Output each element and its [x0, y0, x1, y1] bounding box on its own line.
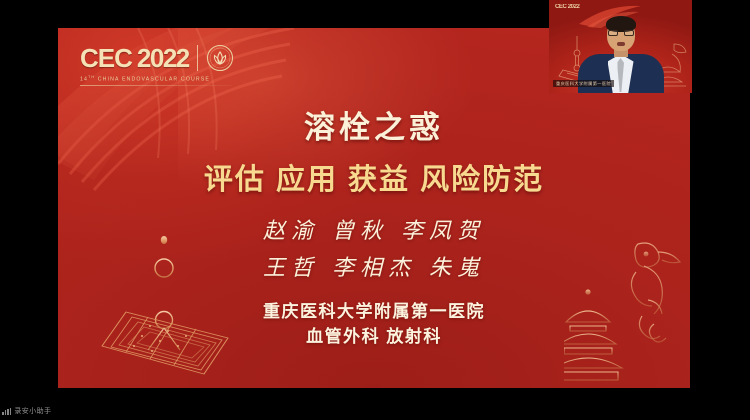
screen-root: CEC 2022 14TH CHINA ENDOVASCULAR COURSE	[0, 0, 750, 420]
presenter-video[interactable]: CEC 2022	[549, 0, 692, 93]
logo-ordinal-suffix: TH	[88, 75, 95, 79]
logo-divider	[197, 45, 198, 71]
logo-year-text: 2022	[137, 45, 189, 71]
logo-ordinal: 14	[80, 77, 88, 83]
logo-rule	[80, 85, 232, 86]
affiliation-line-2: 血管外科 放射科	[58, 322, 690, 347]
logo-cec-text: CEC	[80, 45, 132, 71]
presenter-mouth	[617, 42, 625, 46]
logo-subtitle: 14TH CHINA ENDOVASCULAR COURSE	[80, 75, 240, 83]
logo-subtitle-text: CHINA ENDOVASCULAR COURSE	[98, 77, 210, 83]
signal-bars-icon	[2, 408, 11, 415]
cec-logo: CEC 2022 14TH CHINA ENDOVASCULAR COURSE	[80, 44, 240, 86]
pip-caption: 重庆医科大学附属第一医院	[553, 80, 614, 87]
status-text: 录安小助手	[14, 406, 51, 416]
status-bar: 录安小助手	[2, 406, 51, 416]
presenter-glasses-icon	[608, 30, 634, 36]
affiliation-line-1: 重庆医科大学附属第一医院	[58, 297, 690, 322]
pip-logo: CEC 2022	[555, 4, 579, 10]
lotus-emblem-icon	[206, 44, 234, 72]
authors-line-1: 赵渝 曾秋 李凤贺	[58, 213, 690, 245]
slide-title: 溶栓之惑	[58, 102, 690, 147]
slide-subtitle: 评估 应用 获益 风险防范	[58, 156, 690, 198]
authors-line-2: 王哲 李相杰 朱嵬	[58, 250, 690, 282]
